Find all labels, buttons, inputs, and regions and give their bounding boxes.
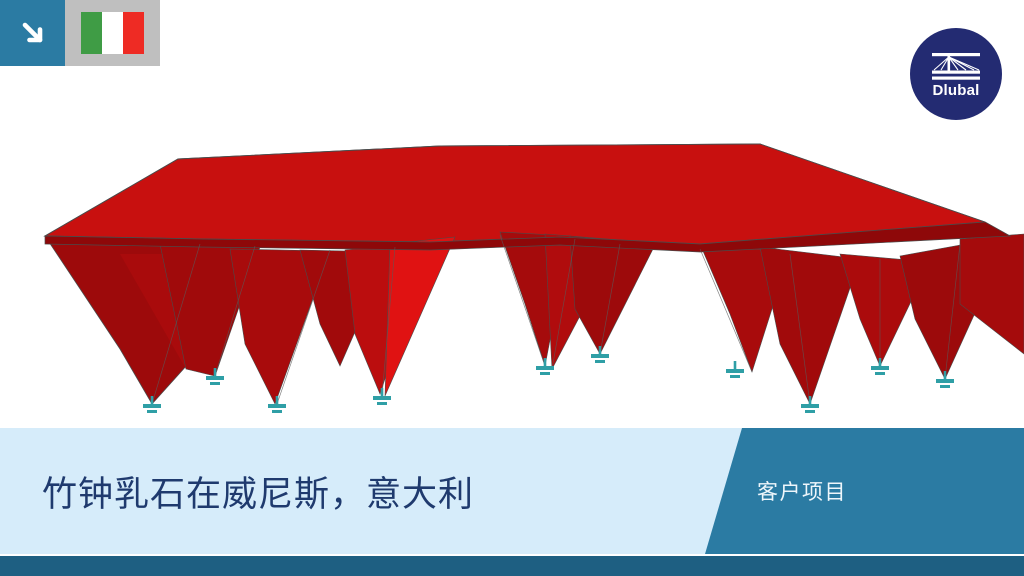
footer-bar (0, 556, 1024, 576)
flag-stripe-green (81, 12, 102, 54)
truss-bridge-icon (930, 51, 982, 81)
model-viewport[interactable] (0, 104, 1024, 434)
page-title: 竹钟乳石在威尼斯，意大利 (42, 428, 474, 554)
arrow-down-right-badge[interactable] (0, 0, 65, 66)
dlubal-logo[interactable]: Dlubal (910, 28, 1002, 120)
flag-stripe-red (123, 12, 144, 54)
presentation-slide: Dlubal (0, 0, 1024, 576)
category-label: 客户项目 (757, 428, 847, 554)
italy-flag-icon (81, 12, 144, 54)
arrow-down-right-icon (16, 16, 50, 50)
caption-band: 竹钟乳石在威尼斯，意大利 客户项目 (0, 428, 1024, 554)
canopy-surfaces (45, 144, 1024, 404)
band-separator (0, 554, 1024, 556)
italy-flag-badge (65, 0, 160, 66)
flag-stripe-white (102, 12, 123, 54)
top-left-badges (0, 0, 160, 66)
dlubal-logo-text: Dlubal (932, 83, 979, 98)
